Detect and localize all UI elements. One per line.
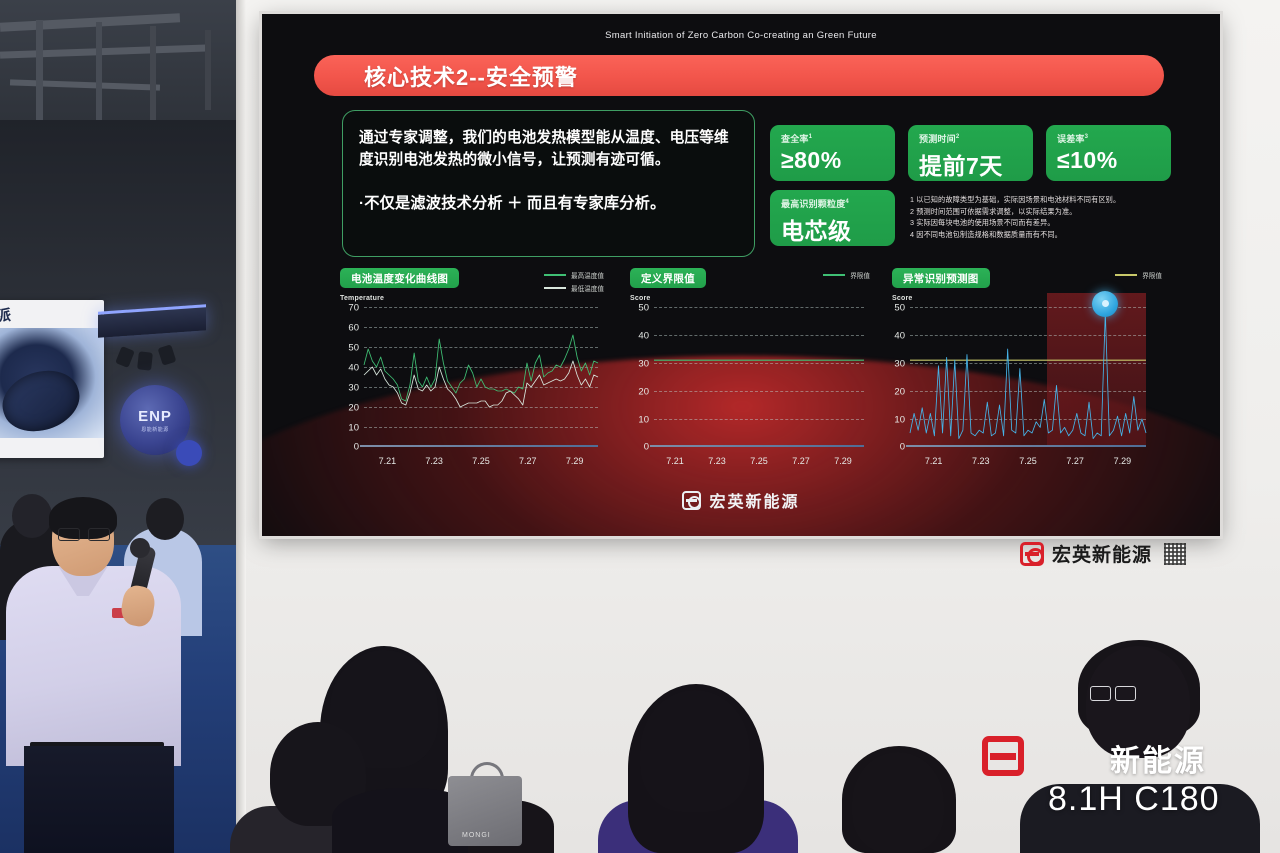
qr-code-icon: [1164, 543, 1186, 565]
footnote-item: 4 因不同电池包制造规格和数据质量而有不同。: [910, 229, 1180, 241]
background-attendee-head: [12, 494, 52, 538]
y-axis-tick-label: 50: [638, 303, 649, 314]
slide-canvas: Smart Initiation of Zero Carbon Co-creat…: [262, 14, 1220, 536]
metric-label-text: 预测时间: [919, 134, 956, 144]
wall-edge: [236, 0, 246, 853]
exhibition-scene: 派 ENP 恩能新能源 Smart Initiation of Zero Car…: [0, 0, 1280, 853]
audience-head: [852, 752, 944, 853]
y-axis-tick-label: 30: [348, 383, 359, 394]
metric-label-text: 误差率: [1057, 134, 1085, 144]
booth-signage: 新能源 8.1H C180: [960, 718, 1280, 853]
metric-value: ≥80%: [781, 147, 885, 174]
metric-card-lead-time: 预测时间2 提前7天: [908, 125, 1033, 181]
chart-series-line: [364, 335, 598, 401]
chart-anomaly-prediction: 异常识别预测图 界限值 Score 50403020100 7.217.237.…: [892, 268, 1162, 476]
booth-number: 8.1H C180: [1048, 780, 1220, 819]
y-axis-tick-label: 20: [348, 403, 359, 414]
brand-name: 宏英新能源: [709, 488, 799, 512]
product-shape: [0, 361, 87, 440]
hongying-logo-icon: [982, 736, 1024, 776]
neighbor-booth-panel: 派: [0, 300, 104, 458]
x-axis-tick-label: 7.25: [750, 456, 768, 466]
legend-swatch: [1115, 274, 1137, 276]
description-box: 通过专家调整，我们的电池发热模型能从温度、电压等维度识别电池发热的微小信号，让预…: [342, 110, 755, 257]
spotlight-icon: [137, 351, 153, 370]
plot-area: 50403020100: [654, 307, 864, 447]
marker-dot: [1102, 300, 1109, 307]
x-axis-tick-label: 7.23: [708, 456, 726, 466]
neighbor-booth-product-image: [0, 328, 104, 438]
metric-card-granularity: 最高识别颗粒度4 电芯级: [770, 190, 895, 246]
y-axis-tick-label: 0: [354, 442, 359, 453]
page-title: 核心技术2--安全预警: [364, 60, 578, 92]
footnotes-list: 1 以已知的故障类型为基础，实际因场景和电池材料不同有区别。 2 预测时间范围可…: [910, 194, 1180, 241]
metric-label: 误差率3: [1057, 132, 1161, 145]
legend-label: 界限值: [850, 270, 870, 280]
truss-beam: [0, 44, 210, 58]
chart-title-badge: 异常识别预测图: [892, 268, 990, 288]
legend-label: 最高温度值: [571, 270, 604, 280]
y-axis-tick-label: 30: [894, 359, 905, 370]
x-axis-tick-label: 7.21: [925, 456, 943, 466]
y-axis-tick-label: 0: [644, 442, 649, 453]
neighbor-booth-logo: 派: [0, 304, 12, 325]
metric-card-error-rate: 误差率3 ≤10%: [1046, 125, 1171, 181]
x-axis-tick-label: 7.29: [1114, 456, 1132, 466]
metric-label: 查全率1: [781, 132, 885, 145]
chart-series-layer: [364, 307, 598, 447]
booth-sign-text: 新能源: [1110, 736, 1206, 780]
truss-column: [205, 30, 211, 110]
chart-battery-temperature: 电池温度变化曲线图 最高温度值 最低温度值 Temperature 706050…: [340, 268, 604, 476]
y-axis-title: Temperature: [340, 295, 384, 302]
presentation-screen: Smart Initiation of Zero Carbon Co-creat…: [262, 14, 1220, 536]
chart-series-layer: [910, 307, 1146, 447]
slide-title-banner: 核心技术2--安全预警: [314, 55, 1164, 96]
plot-area: 706050403020100: [364, 307, 598, 447]
booth-decor-circle: [176, 440, 202, 466]
description-bullet: ·不仅是滤波技术分析 ＋ 而且有专家库分析。: [359, 191, 738, 213]
chart-series-line: [364, 361, 598, 407]
metric-label: 最高识别颗粒度4: [781, 197, 885, 210]
presenter-trousers: [24, 746, 174, 853]
chart-legend: 界限值: [1115, 270, 1162, 280]
x-axis-tick-label: 7.29: [834, 456, 852, 466]
wall-brand-logo: 宏英新能源: [1020, 540, 1186, 567]
legend-entry: 界限值: [1115, 270, 1162, 280]
chart-series-line: [910, 313, 1146, 439]
legend-swatch: [544, 274, 566, 276]
y-axis-tick-label: 20: [638, 387, 649, 398]
y-axis-tick-label: 40: [894, 331, 905, 342]
glasses-icon: [1090, 686, 1136, 699]
hongying-logo-icon: [1020, 542, 1044, 566]
x-axis-tick-label: 7.21: [666, 456, 684, 466]
footnote-ref: 1: [809, 134, 813, 140]
footnote-ref: 4: [845, 199, 849, 205]
footnote-ref: 3: [1085, 134, 1089, 140]
metric-value: 电芯级: [781, 212, 885, 246]
chart-threshold-definition: 定义界限值 界限值 Score 50403020100 7.217.237.25…: [630, 268, 870, 476]
footnote-item: 1 以已知的故障类型为基础，实际因场景和电池材料不同有区别。: [910, 194, 1180, 206]
presenter-shirt: [6, 566, 181, 766]
tote-bag: MONGI: [448, 776, 522, 846]
y-axis-tick-label: 30: [638, 359, 649, 370]
truss-column: [150, 26, 156, 121]
chart-title-badge: 电池温度变化曲线图: [340, 268, 459, 288]
x-axis-tick-label: 7.23: [972, 456, 990, 466]
legend-label: 最低温度值: [571, 283, 604, 293]
y-axis-title: Score: [892, 295, 912, 302]
truss-column: [96, 22, 102, 132]
y-axis-tick-label: 10: [894, 415, 905, 426]
y-axis-tick-label: 50: [348, 343, 359, 354]
glasses-icon: [58, 528, 110, 539]
plot-area: 50403020100: [910, 307, 1146, 447]
metric-label-text: 最高识别颗粒度: [781, 199, 845, 209]
y-axis-tick-label: 60: [348, 323, 359, 334]
y-axis-tick-label: 10: [348, 423, 359, 434]
y-axis-title: Score: [630, 295, 650, 302]
x-axis-labels: 7.217.237.257.277.29: [654, 456, 864, 466]
legend-entry: 最低温度值: [544, 283, 604, 293]
x-axis-labels: 7.217.237.257.277.29: [910, 456, 1146, 466]
metric-card-recall: 查全率1 ≥80%: [770, 125, 895, 181]
x-axis-tick-label: 7.25: [472, 456, 490, 466]
y-axis-tick-label: 50: [894, 303, 905, 314]
x-axis-tick-label: 7.21: [379, 456, 397, 466]
x-axis-tick-label: 7.29: [566, 456, 584, 466]
chart-legend: 最高温度值 最低温度值: [544, 270, 604, 293]
y-axis-tick-label: 0: [900, 442, 905, 453]
metric-label: 预测时间2: [919, 132, 1023, 145]
wall-brand-name: 宏英新能源: [1052, 540, 1152, 567]
x-axis-tick-label: 7.27: [1066, 456, 1084, 466]
enp-logo-subtext: 恩能新能源: [141, 426, 169, 433]
x-axis-labels: 7.217.237.257.277.29: [364, 456, 598, 466]
legend-label: 界限值: [1142, 270, 1162, 280]
y-axis-tick-label: 10: [638, 415, 649, 426]
audience-head: [640, 690, 750, 812]
background-attendee-head: [146, 498, 184, 540]
chart-legend: 界限值: [823, 270, 870, 280]
legend-entry: 界限值: [823, 270, 870, 280]
hongying-logo-icon: [682, 491, 701, 510]
slide-english-subtitle: Smart Initiation of Zero Carbon Co-creat…: [262, 30, 1220, 41]
footnote-item: 2 预测时间范围可依据需求调整，以实际结果为准。: [910, 206, 1180, 218]
metric-value: ≤10%: [1057, 147, 1161, 174]
x-axis-tick-label: 7.25: [1019, 456, 1037, 466]
chart-title-badge: 定义界限值: [630, 268, 706, 288]
x-axis-tick-label: 7.27: [792, 456, 810, 466]
legend-swatch: [823, 274, 845, 276]
y-axis-tick-label: 20: [894, 387, 905, 398]
footnote-item: 3 实际因每块电池的使用场景不同而有差异。: [910, 217, 1180, 229]
tote-bag-brand: MONGI: [462, 832, 491, 839]
x-axis-tick-label: 7.27: [519, 456, 537, 466]
chart-series-layer: [654, 307, 864, 447]
x-axis-tick-label: 7.23: [425, 456, 443, 466]
truss-beam: [10, 79, 160, 90]
data-point-marker-icon: [1092, 291, 1118, 317]
metric-value: 提前7天: [919, 147, 1023, 181]
footnote-ref: 2: [956, 134, 960, 140]
slide-footer-logo: 宏英新能源: [262, 488, 1220, 512]
y-axis-tick-label: 40: [638, 331, 649, 342]
metric-label-text: 查全率: [781, 134, 809, 144]
legend-swatch: [544, 287, 566, 289]
description-paragraph: 通过专家调整，我们的电池发热模型能从温度、电压等维度识别电池发热的微小信号，让预…: [359, 128, 738, 172]
enp-logo-text: ENP: [138, 408, 172, 425]
y-axis-tick-label: 40: [348, 363, 359, 374]
y-axis-tick-label: 70: [348, 303, 359, 314]
legend-entry: 最高温度值: [544, 270, 604, 280]
